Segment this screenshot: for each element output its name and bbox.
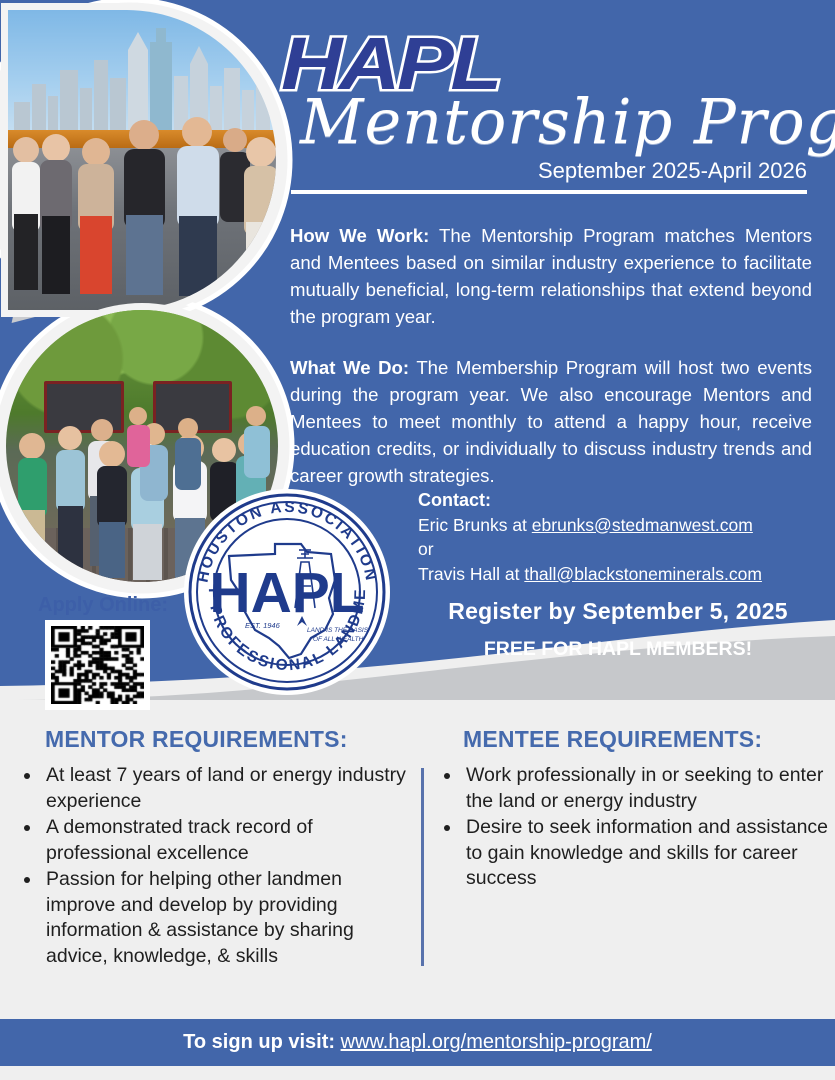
contact-block: Contact: Eric Brunks at ebrunks@stedmanw… xyxy=(418,488,818,586)
footer-signup-text: To sign up visit: www.hapl.org/mentorshi… xyxy=(183,1031,652,1054)
photo-people-silhouettes-top xyxy=(8,10,276,310)
list-item: Desire to seek information and assistanc… xyxy=(462,815,835,892)
list-item: Passion for helping other landmen improv… xyxy=(42,867,412,969)
flyer-page: HAPL Mentorship Program September 2025-A… xyxy=(0,0,835,1080)
header-divider-rule xyxy=(291,190,807,194)
what-we-do-label: What We Do: xyxy=(290,357,409,378)
mentor-requirements-list: At least 7 years of land or energy indus… xyxy=(16,763,412,970)
contact-person-1-name: Eric Brunks at xyxy=(418,515,532,535)
seal-motto-line-1: LAND IS THE BASIS xyxy=(307,627,369,634)
seal-established-text: EST. 1946 xyxy=(245,621,281,630)
list-item: A demonstrated track record of professio… xyxy=(42,815,412,866)
contact-person-2-name: Travis Hall at xyxy=(418,564,524,584)
seal-motto-line-2: OF ALL WEALTH xyxy=(313,636,364,643)
script-title: Mentorship Program xyxy=(300,90,835,154)
footer-url-link[interactable]: www.hapl.org/mentorship-program/ xyxy=(341,1031,652,1053)
hapl-seal-logo: HAPL HOUSTON ASSOCIATION OF PROFESSIONAL… xyxy=(183,488,391,696)
program-date-range: September 2025-April 2026 xyxy=(538,158,807,184)
seal-center-text: HAPL xyxy=(209,561,364,625)
register-deadline: Register by September 5, 2025 xyxy=(418,598,818,625)
contact-person-1: Eric Brunks at ebrunks@stedmanwest.com xyxy=(418,513,818,538)
contact-or: or xyxy=(418,537,818,562)
mentee-requirements-list: Work professionally in or seeking to ent… xyxy=(436,763,835,893)
contact-label: Contact: xyxy=(418,488,818,513)
contact-person-1-email-link[interactable]: ebrunks@stedmanwest.com xyxy=(532,515,753,535)
footer-label: To sign up visit: xyxy=(183,1031,340,1053)
qr-code-canvas xyxy=(51,626,144,704)
column-divider xyxy=(421,768,424,966)
list-item: Work professionally in or seeking to ent… xyxy=(462,763,835,814)
what-we-do-paragraph: What We Do: The Membership Program will … xyxy=(290,354,812,489)
mentee-requirements-heading: MENTEE REQUIREMENTS: xyxy=(463,726,762,753)
free-for-members-note: FREE FOR HAPL MEMBERS! xyxy=(418,638,818,661)
footer-bar: To sign up visit: www.hapl.org/mentorshi… xyxy=(0,1019,835,1066)
qr-code[interactable] xyxy=(45,620,150,710)
how-we-work-label: How We Work: xyxy=(290,225,429,246)
mentor-requirements-heading: MENTOR REQUIREMENTS: xyxy=(45,726,348,753)
apply-online-label: Apply Online: xyxy=(38,594,168,617)
photo-houston-skyline-group xyxy=(8,10,276,310)
how-we-work-paragraph: How We Work: The Mentorship Program matc… xyxy=(290,222,812,330)
contact-person-2-email-link[interactable]: thall@blackstoneminerals.com xyxy=(524,564,762,584)
contact-person-2: Travis Hall at thall@blackstoneminerals.… xyxy=(418,562,818,587)
list-item: At least 7 years of land or energy indus… xyxy=(42,763,412,814)
